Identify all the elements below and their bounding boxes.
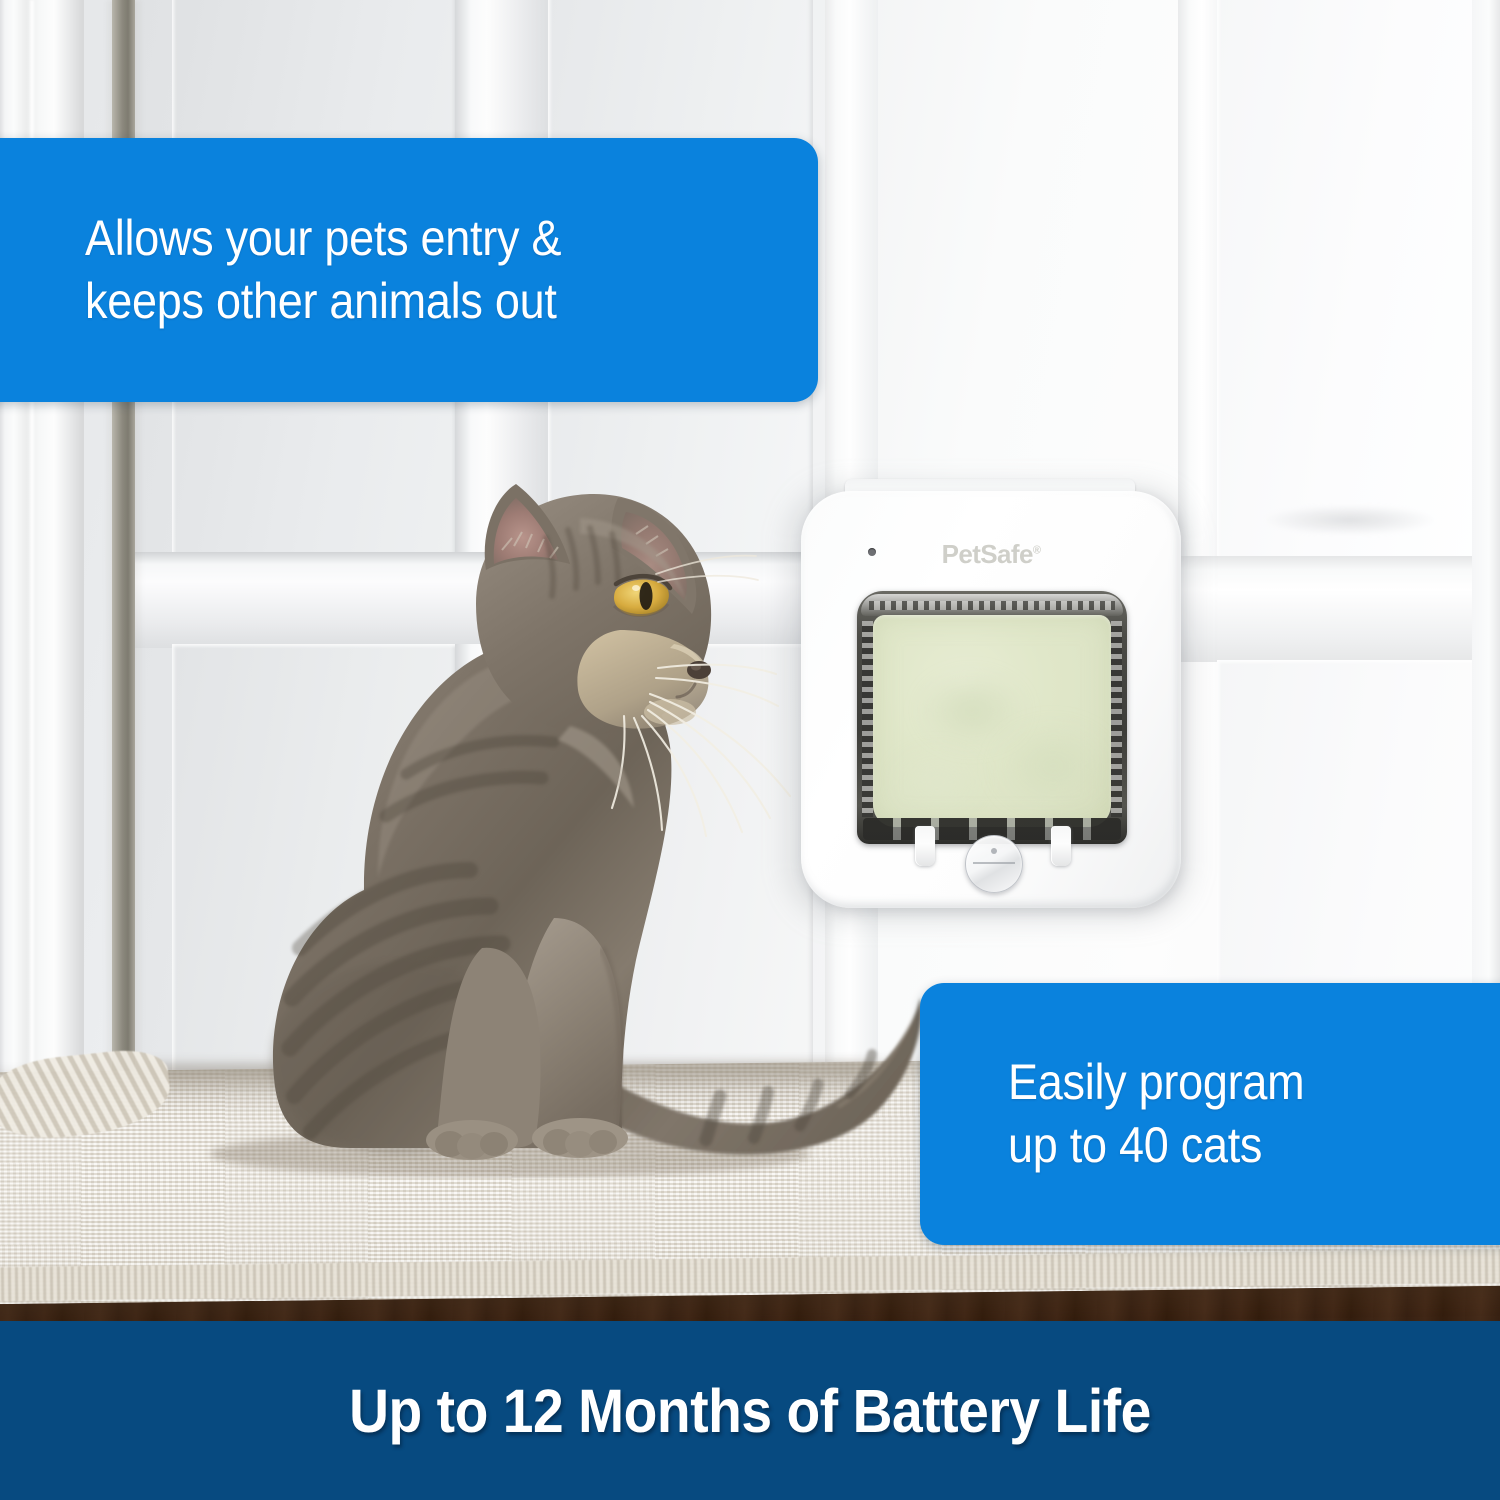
callout-top-line-2: keeps other animals out bbox=[85, 270, 745, 333]
callout-top-line-1: Allows your pets entry & bbox=[85, 207, 745, 270]
flap-translucency-2 bbox=[993, 723, 1113, 809]
bottom-banner: Up to 12 Months of Battery Life bbox=[0, 1321, 1500, 1500]
pet-door-flap bbox=[873, 615, 1111, 827]
pet-door-opening bbox=[857, 591, 1127, 844]
brand-logo: PetSafe® bbox=[801, 539, 1181, 570]
petsafe-pet-door-product: PetSafe® bbox=[801, 479, 1181, 911]
brand-trademark: ® bbox=[1033, 544, 1041, 556]
latch-tab-left bbox=[915, 826, 935, 866]
flap-translucency-3 bbox=[889, 747, 985, 817]
wall-panel-upper-right bbox=[1217, 0, 1479, 565]
callout-bottom-line-2: up to 40 cats bbox=[1008, 1114, 1478, 1177]
feature-callout-top-left: Allows your pets entry & keeps other ani… bbox=[0, 138, 818, 402]
callout-bottom-line-1: Easily program bbox=[1008, 1051, 1478, 1114]
banner-title: Up to 12 Months of Battery Life bbox=[349, 1376, 1151, 1446]
faint-watermark bbox=[1265, 505, 1435, 535]
knob-indicator-dot bbox=[991, 848, 997, 854]
knob-slot bbox=[973, 862, 1015, 864]
gasket-left-strip bbox=[862, 621, 873, 817]
latch-tab-right bbox=[1051, 826, 1071, 866]
rotary-lock-knob-icon[interactable] bbox=[965, 835, 1023, 893]
product-feature-image: PetSafe® Allows bbox=[0, 0, 1500, 1500]
pet-door-frame: PetSafe® bbox=[801, 491, 1181, 908]
feature-callout-bottom-right: Easily program up to 40 cats bbox=[920, 983, 1500, 1245]
brand-name: PetSafe bbox=[942, 539, 1033, 569]
gasket-right-strip bbox=[1111, 621, 1122, 817]
gasket-top-teeth bbox=[869, 601, 1115, 610]
wall-rail-right bbox=[1178, 556, 1500, 662]
